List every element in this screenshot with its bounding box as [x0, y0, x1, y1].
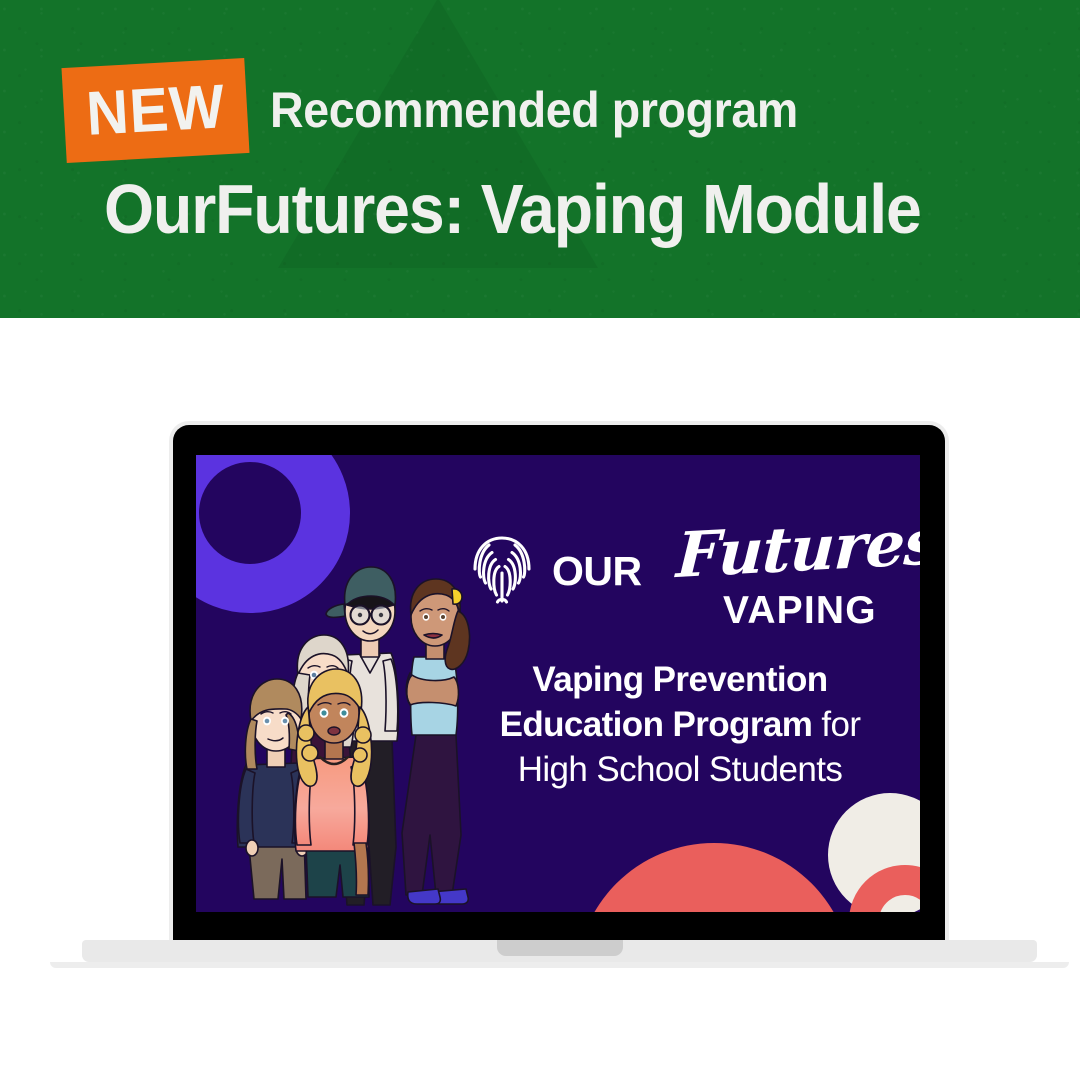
- laptop-base: [82, 940, 1037, 962]
- logo-word-vaping: VAPING: [723, 591, 877, 630]
- cream-circle-decoration-icon: [828, 793, 920, 912]
- laptop-screen: OUR Futures VAPING Vaping Prevention Edu…: [196, 455, 920, 912]
- logo-word-futures: Futures: [675, 511, 920, 587]
- slide-tagline: Vaping Prevention Education Program for …: [468, 658, 892, 792]
- header-eyebrow-text: Recommended program: [270, 84, 798, 137]
- character-girl-ponytail: [402, 579, 470, 904]
- laptop-base-lip: [50, 962, 1069, 968]
- header-banner: [0, 0, 1080, 318]
- new-badge-label: NEW: [84, 76, 226, 146]
- coral-circle-decoration-icon: [576, 843, 852, 912]
- tagline-line-1-text: Vaping Prevention: [532, 660, 827, 699]
- new-badge: NEW: [61, 58, 249, 163]
- laptop-trackpad-notch: [497, 940, 623, 956]
- character-girl-platinum: [291, 635, 355, 813]
- page-title: OurFutures: Vaping Module: [104, 173, 921, 247]
- tagline-line-2-light-text: for: [812, 705, 860, 744]
- laptop-lid: [173, 425, 945, 947]
- character-girl-curly-blonde: [295, 669, 372, 897]
- tagline-line-3-text: High School Students: [518, 750, 843, 789]
- purple-ring-decoration-icon: [196, 455, 350, 613]
- tagline-line-2: Education Program for: [468, 703, 892, 748]
- students-illustration: [220, 507, 520, 912]
- tagline-line-2-bold-text: Education Program: [500, 705, 813, 744]
- character-boy-brown-hair: [237, 679, 308, 899]
- coral-ring-decoration-icon: [849, 865, 920, 912]
- ourfutures-vaping-logo: OUR Futures VAPING: [470, 531, 870, 641]
- character-boy-cap-glasses: [326, 567, 398, 905]
- tagline-line-1: Vaping Prevention: [468, 658, 892, 703]
- tagline-line-3: High School Students: [468, 748, 892, 793]
- fingerprint-icon: [470, 533, 534, 609]
- logo-word-our: OUR: [552, 551, 642, 592]
